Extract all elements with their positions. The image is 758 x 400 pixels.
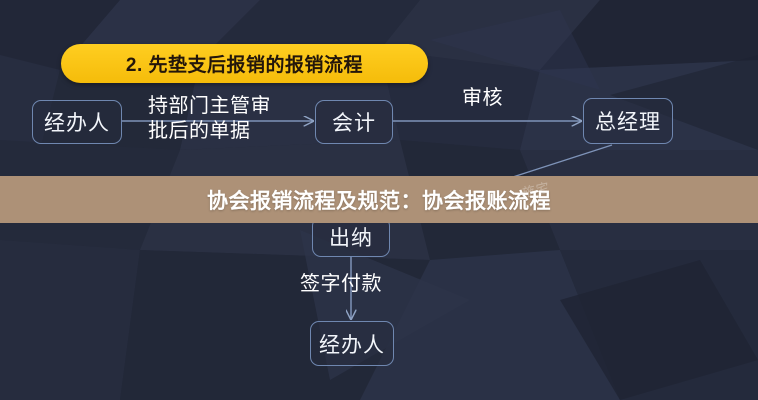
edge-label-line2: 批后的单据 — [148, 119, 271, 144]
edge-label-line1: 签字付款 — [300, 272, 382, 297]
flow-node-label: 经办人 — [44, 107, 110, 137]
flow-node-label: 会计 — [332, 107, 376, 137]
edge-label-payment: 签字付款 — [300, 272, 382, 297]
flow-node-operator-bottom: 经办人 — [310, 321, 394, 366]
edge-label-document: 持部门主管审 批后的单据 — [148, 94, 271, 144]
edge-label-review: 审核 — [462, 86, 503, 111]
section-title-text: 2. 先垫支后报销的报销流程 — [126, 50, 363, 77]
edge-label-line1: 审核 — [462, 86, 503, 111]
flow-node-label: 总经理 — [595, 106, 661, 136]
flow-node-general-manager: 总经理 — [583, 98, 673, 144]
section-title-pill: 2. 先垫支后报销的报销流程 — [61, 44, 428, 83]
flow-node-operator-top: 经办人 — [32, 100, 122, 144]
flow-node-cashier: 出纳 — [312, 217, 390, 257]
flow-node-accountant: 会计 — [315, 100, 393, 144]
flow-node-label: 出纳 — [329, 222, 373, 252]
caption-text: 协会报销流程及规范：协会报账流程 — [0, 176, 758, 223]
edge-label-line1: 持部门主管审 — [148, 94, 271, 119]
slide-canvas: 2. 先垫支后报销的报销流程 经办人 会计 总经理 出纳 经办人 持部门主管审 … — [0, 0, 758, 400]
flow-node-label: 经办人 — [319, 329, 385, 359]
